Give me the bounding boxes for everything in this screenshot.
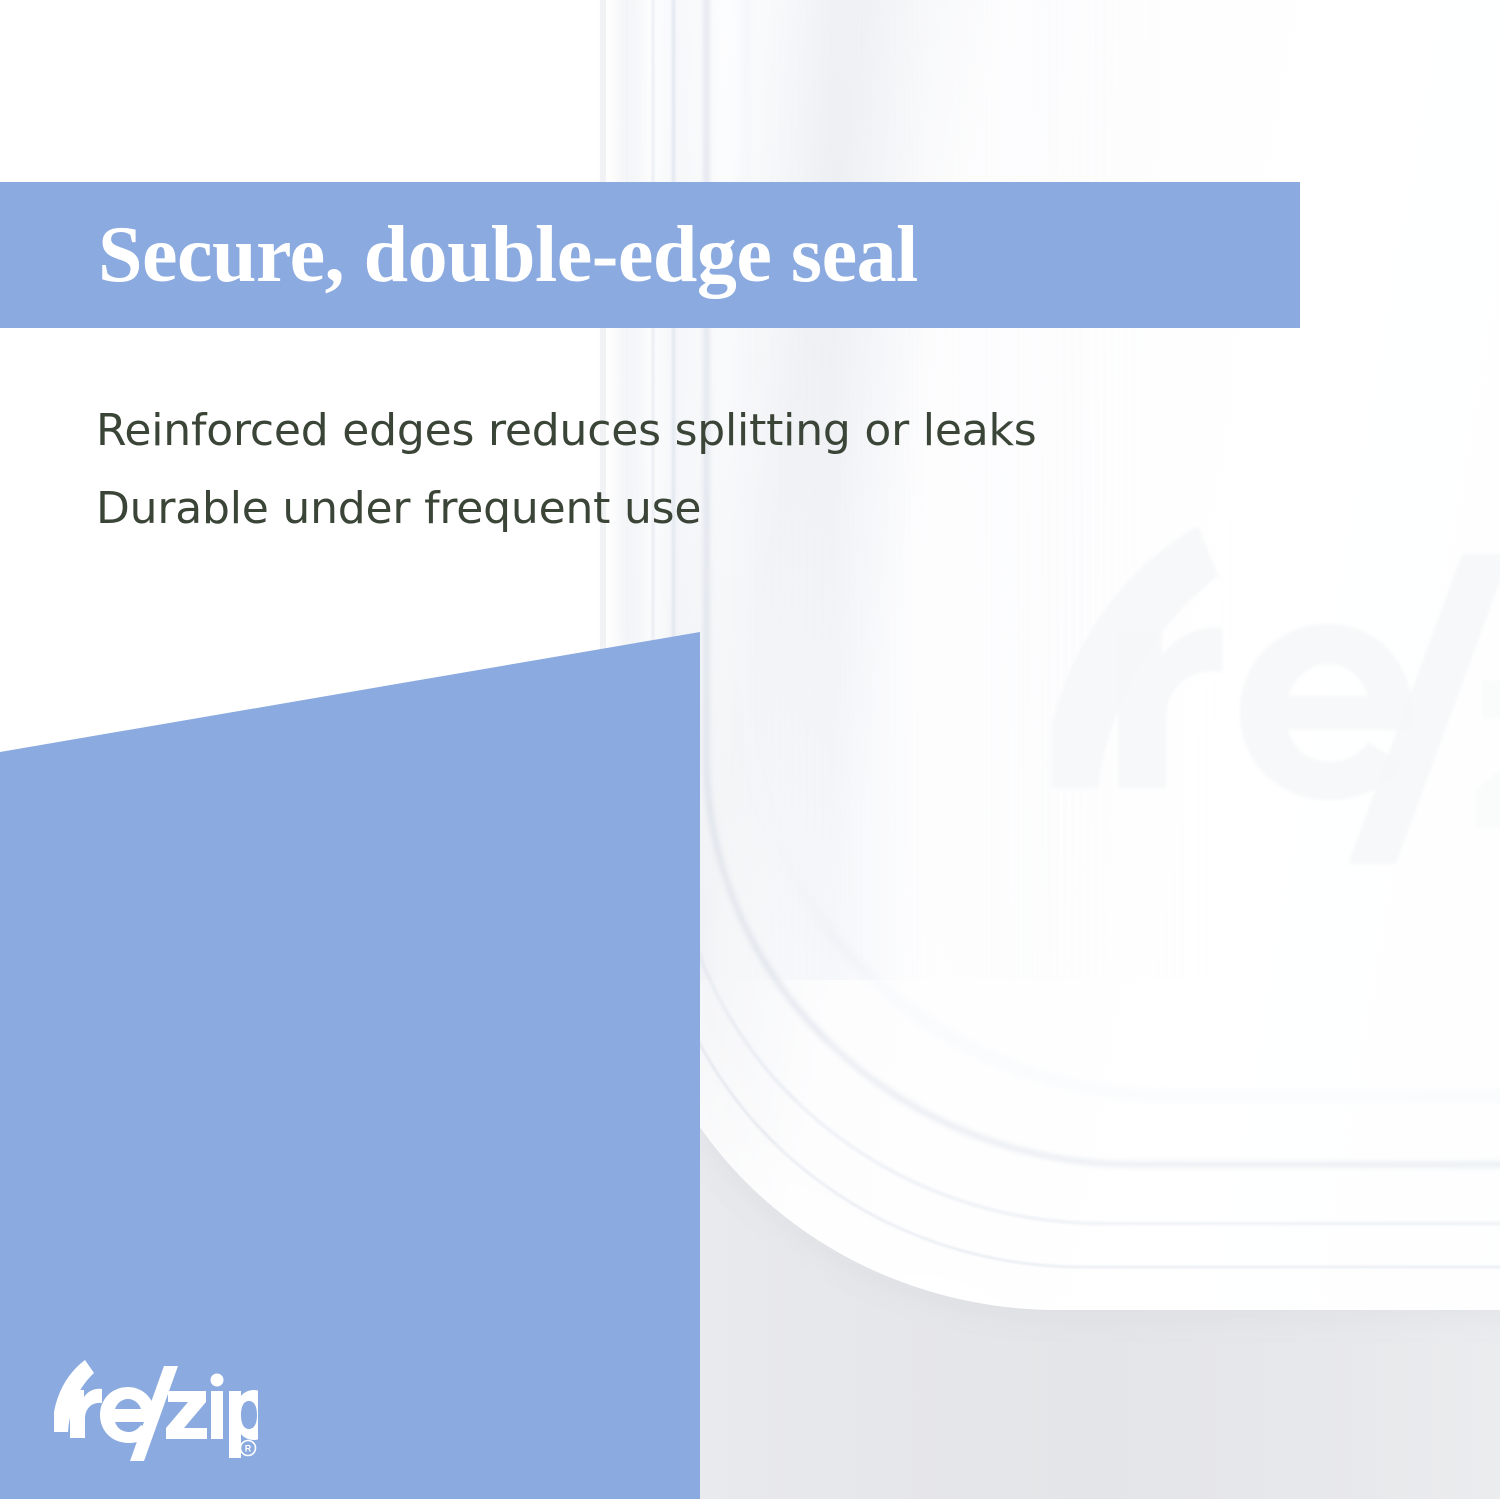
logo-letter-r [70, 1389, 102, 1438]
body-copy: Reinforced edges reduces splitting or le… [96, 392, 1246, 548]
logo-registered-trademark-icon: R [241, 1441, 256, 1456]
logo-letter-i-stem [211, 1391, 223, 1439]
headline-text: Secure, double-edge seal [98, 215, 918, 295]
rezip-logo: R [48, 1358, 258, 1462]
logo-letter-i-dot [211, 1374, 224, 1387]
logo-letter-p [229, 1390, 258, 1458]
body-line-1: Reinforced edges reduces splitting or le… [96, 392, 1246, 470]
headline-banner: Secure, double-edge seal [0, 182, 1300, 328]
product-marketing-image: Secure, double-edge seal Reinforced edge… [0, 0, 1500, 1499]
svg-text:R: R [245, 1444, 252, 1454]
body-line-2: Durable under frequent use [96, 470, 1246, 548]
logo-letter-z [166, 1391, 207, 1439]
